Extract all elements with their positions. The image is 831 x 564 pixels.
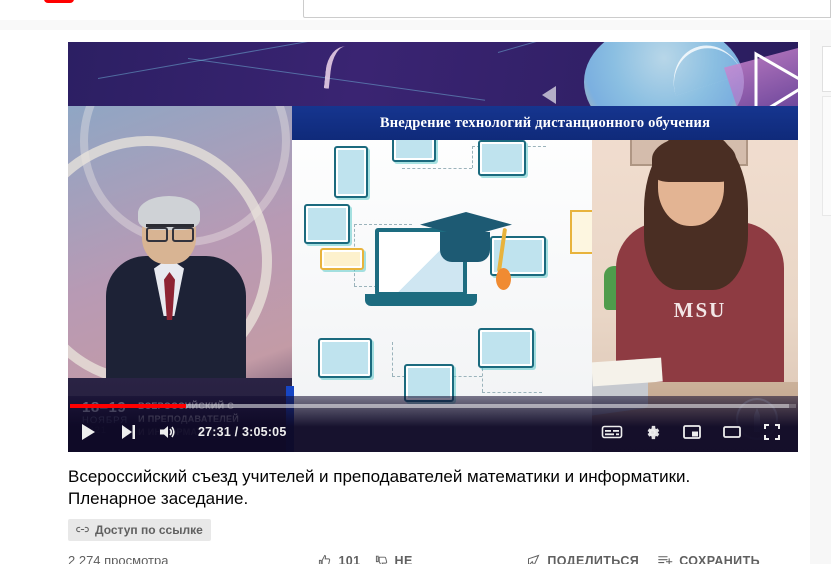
search-input[interactable] — [303, 0, 831, 18]
access-badge: Доступ по ссылке — [68, 519, 211, 541]
infographic-node-certificate — [318, 338, 372, 378]
sidebar-card-second[interactable] — [822, 96, 831, 216]
share-label: ПОДЕЛИТЬСЯ — [547, 554, 639, 564]
save-label: СОХРАНИТЬ — [679, 554, 760, 564]
progress-bar[interactable] — [70, 404, 796, 408]
infographic-connector — [402, 168, 472, 169]
like-count: 101 — [338, 554, 360, 564]
fullscreen-icon[interactable] — [752, 412, 792, 452]
stats-row: 2 274 просмотра 101 НЕ ПОДЕЛИТЬСЯ — [68, 553, 810, 564]
video-stage: MSU Внедрение технологий дистанционного … — [68, 42, 798, 452]
infographic-connector — [482, 392, 542, 393]
infographic-connector — [472, 146, 473, 168]
student-hoodie-logo: MSU — [664, 298, 736, 324]
sidebar-card-top[interactable] — [822, 46, 831, 92]
video-title: Всероссийский съезд учителей и преподава… — [68, 466, 768, 511]
view-count: 2 274 просмотра — [68, 553, 168, 564]
dislike-label: НЕ — [395, 554, 413, 564]
theater-icon[interactable] — [712, 412, 752, 452]
controls-right — [592, 412, 792, 452]
thumbs-down-icon — [375, 554, 389, 564]
badge-row: Доступ по ссылке — [68, 519, 810, 542]
slide-banner: Внедрение технологий дистанционного обуч… — [292, 106, 798, 140]
video-player[interactable]: MSU Внедрение технологий дистанционного … — [68, 42, 798, 452]
student-paper — [592, 358, 663, 387]
miniplayer-icon[interactable] — [672, 412, 712, 452]
speaker-glasses-icon — [146, 224, 194, 236]
like-button[interactable]: 101 — [318, 554, 360, 564]
slide-banner-title: Внедрение технологий дистанционного обуч… — [380, 115, 710, 132]
engagement-actions: 101 НЕ — [318, 554, 412, 564]
graduation-cap-base — [440, 232, 490, 262]
share-save-actions: ПОДЕЛИТЬСЯ СОХРАНИТЬ — [526, 553, 760, 564]
subtitles-icon[interactable] — [592, 412, 632, 452]
settings-icon[interactable] — [632, 412, 672, 452]
youtube-watch-page: MSU Внедрение технологий дистанционного … — [0, 0, 831, 564]
dislike-button[interactable]: НЕ — [375, 554, 413, 564]
progress-played — [70, 404, 186, 408]
slide-top-band — [68, 42, 798, 106]
next-icon[interactable] — [108, 412, 148, 452]
masthead-strip — [0, 20, 831, 30]
video-meta: Всероссийский съезд учителей и преподава… — [68, 466, 810, 541]
infographic-node-video — [478, 140, 526, 176]
infographic-node-tablet — [334, 146, 368, 198]
save-button[interactable]: СОХРАНИТЬ — [657, 553, 760, 564]
access-badge-label: Доступ по ссылке — [95, 523, 203, 537]
save-playlist-icon — [657, 553, 673, 564]
infographic-node-book — [570, 210, 592, 254]
share-button[interactable]: ПОДЕЛИТЬСЯ — [526, 553, 639, 564]
infographic-node-search — [478, 328, 534, 368]
masthead — [0, 0, 831, 20]
player-controls[interactable]: 27:31 / 3:05:05 — [68, 396, 798, 452]
graduation-tassel-ball — [496, 268, 511, 290]
infographic-connector — [354, 224, 412, 225]
youtube-logo-icon[interactable] — [44, 0, 74, 3]
infographic-node-code — [320, 248, 364, 270]
infographic-connector — [392, 342, 393, 376]
decor-arc-icon — [324, 45, 358, 92]
share-icon — [526, 553, 541, 564]
infographic-node-quiz — [304, 204, 350, 244]
infographic-laptop-base — [365, 294, 477, 306]
decor-triangle-icon — [542, 86, 556, 104]
volume-icon[interactable] — [148, 412, 188, 452]
link-icon — [76, 523, 89, 536]
play-icon[interactable] — [68, 412, 108, 452]
controls-row: 27:31 / 3:05:05 — [68, 412, 798, 452]
time-display: 27:31 / 3:05:05 — [198, 425, 286, 439]
student-hair-front — [652, 136, 736, 182]
thumbs-up-icon — [318, 554, 332, 564]
